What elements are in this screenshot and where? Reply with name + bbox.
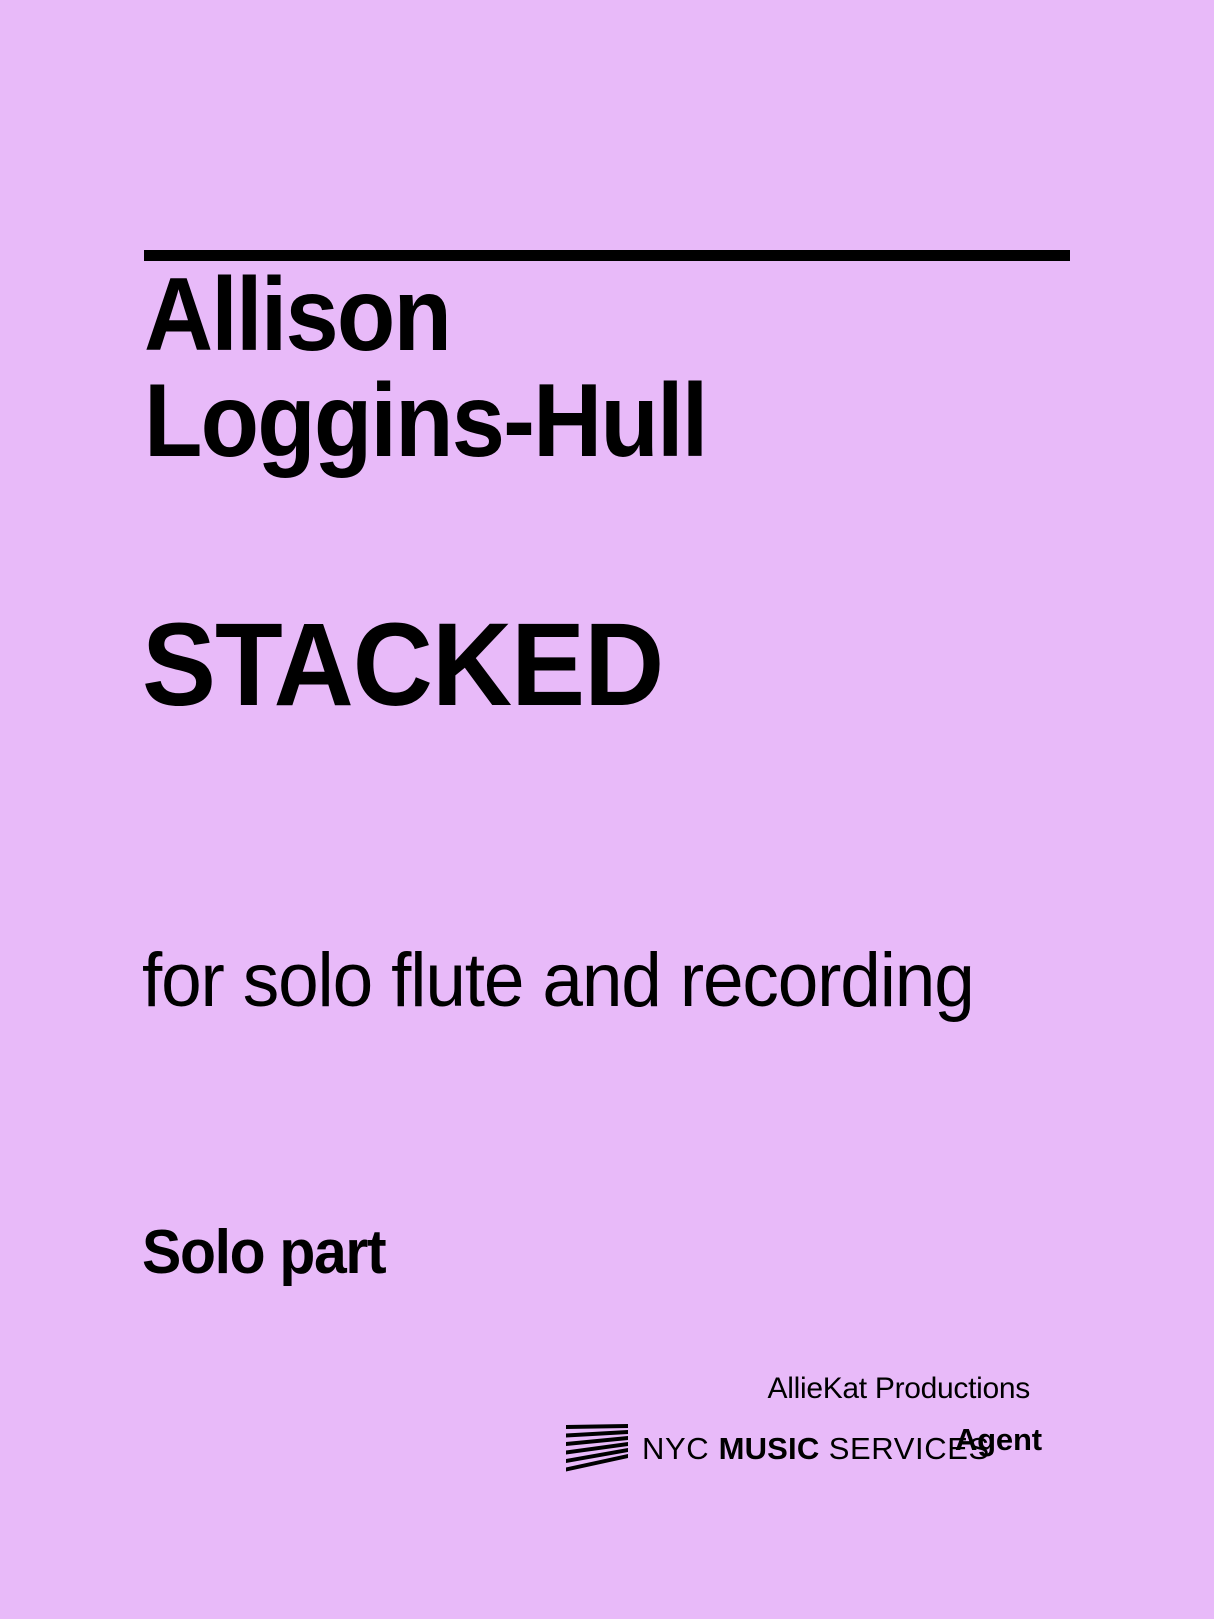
wordmark-music: MUSIC — [719, 1433, 820, 1464]
publisher-name: AllieKat Productions — [768, 1374, 1030, 1404]
instrumentation-subtitle: for solo flute and recording — [142, 943, 974, 1019]
nyc-music-services-fanned-lines-icon — [566, 1422, 628, 1474]
score-cover-page: Allison Loggins-Hull STACKED for solo fl… — [0, 0, 1214, 1619]
footer-credits: AllieKat Productions NYC MUSIC SERVICES … — [0, 1374, 1214, 1514]
composer-name-line-2: Loggins-Hull — [144, 368, 1046, 474]
composer-name: Allison Loggins-Hull — [144, 262, 1046, 474]
engraver-wordmark: NYC MUSIC SERVICES — [642, 1433, 990, 1464]
agent-role-label: Agent — [955, 1424, 1042, 1455]
engraver-logo-lockup: NYC MUSIC SERVICES — [566, 1422, 990, 1474]
wordmark-nyc: NYC — [642, 1433, 709, 1464]
work-title: STACKED — [142, 606, 663, 724]
part-designation: Solo part — [142, 1222, 385, 1284]
composer-name-line-1: Allison — [144, 262, 1046, 368]
